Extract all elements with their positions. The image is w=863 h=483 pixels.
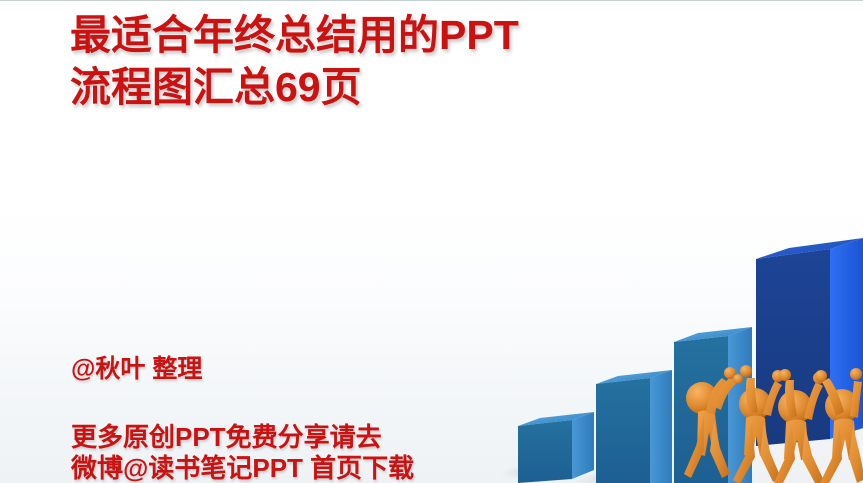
chart-bar-2 (596, 370, 672, 483)
chart-bar-1 (518, 412, 594, 483)
promo-text: 更多原创PPT免费分享请去 微博@读书笔记PPT 首页下载 (71, 422, 414, 483)
title-line-2: 流程图汇总69页 (70, 61, 710, 113)
bar-chart-illustration (490, 230, 863, 483)
title-line-1: 最适合年终总结用的PPT (70, 12, 519, 58)
presentation-slide: 最适合年终总结用的PPT 流程图汇总69页 @秋叶 整理 更多原创PPT免费分享… (0, 0, 863, 483)
author-credit: @秋叶 整理 (71, 354, 202, 384)
page-title: 最适合年终总结用的PPT 流程图汇总69页 (70, 9, 710, 114)
promo-line-1: 更多原创PPT免费分享请去 (71, 422, 382, 452)
promo-line-2: 微博@读书笔记PPT 首页下载 (71, 453, 414, 483)
